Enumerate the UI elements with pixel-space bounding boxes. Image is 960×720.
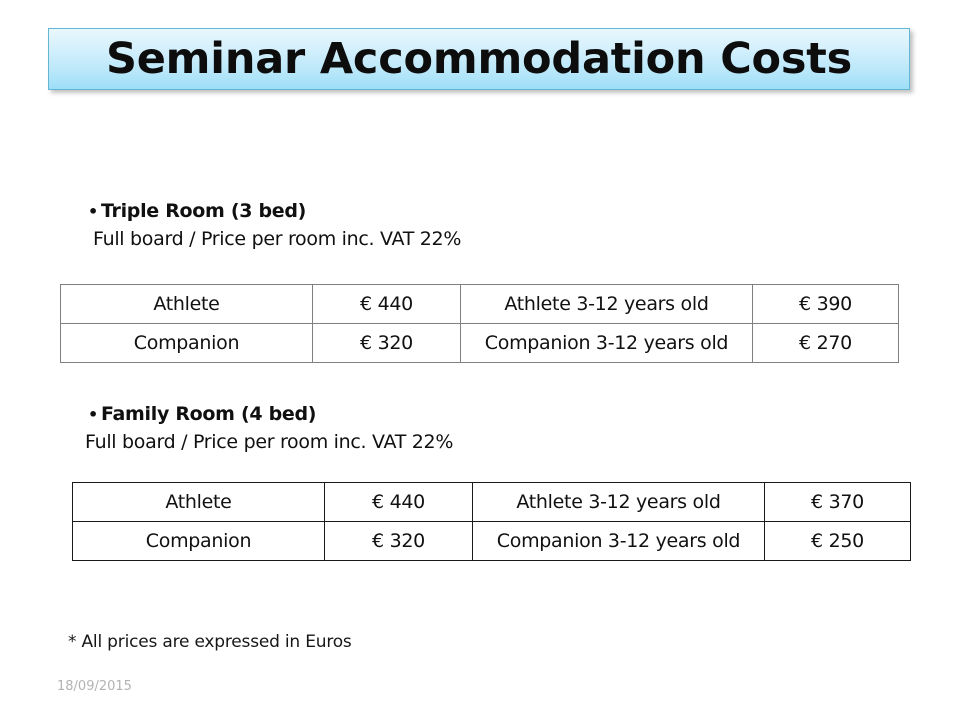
cell-occupant-type-child: Companion 3-12 years old — [473, 522, 765, 561]
cell-price-child: € 250 — [765, 522, 911, 561]
cell-occupant-type: Athlete — [73, 483, 325, 522]
section-heading-family-room: •Family Room (4 bed) — [88, 403, 316, 425]
cell-occupant-type-child: Athlete 3-12 years old — [461, 285, 753, 324]
table-row: Athlete € 440 Athlete 3-12 years old € 3… — [73, 483, 911, 522]
cell-occupant-type-child: Athlete 3-12 years old — [473, 483, 765, 522]
cell-price: € 440 — [313, 285, 461, 324]
cell-occupant-type: Athlete — [61, 285, 313, 324]
bullet-icon: • — [88, 405, 101, 424]
cell-occupant-type-child: Companion 3-12 years old — [461, 324, 753, 363]
table-row: Companion € 320 Companion 3-12 years old… — [61, 324, 899, 363]
section-heading-text: Family Room (4 bed) — [101, 403, 316, 425]
section-subheading-triple-room: Full board / Price per room inc. VAT 22% — [93, 228, 461, 250]
section-heading-text: Triple Room (3 bed) — [101, 200, 306, 222]
cell-price: € 320 — [313, 324, 461, 363]
slide-canvas: Seminar Accommodation Costs •Triple Room… — [0, 0, 960, 720]
section-subheading-family-room: Full board / Price per room inc. VAT 22% — [85, 431, 453, 453]
cell-occupant-type: Companion — [73, 522, 325, 561]
cell-price-child: € 390 — [753, 285, 899, 324]
table-row: Athlete € 440 Athlete 3-12 years old € 3… — [61, 285, 899, 324]
price-table-triple-room: Athlete € 440 Athlete 3-12 years old € 3… — [60, 284, 899, 363]
price-table-family-room: Athlete € 440 Athlete 3-12 years old € 3… — [72, 482, 911, 561]
slide-date: 18/09/2015 — [57, 679, 132, 694]
page-title: Seminar Accommodation Costs — [106, 38, 852, 81]
section-heading-triple-room: •Triple Room (3 bed) — [88, 200, 306, 222]
cell-price-child: € 370 — [765, 483, 911, 522]
footnote-text: * All prices are expressed in Euros — [68, 632, 352, 652]
title-banner: Seminar Accommodation Costs — [48, 28, 910, 90]
bullet-icon: • — [88, 202, 101, 221]
cell-price-child: € 270 — [753, 324, 899, 363]
cell-price: € 440 — [325, 483, 473, 522]
cell-price: € 320 — [325, 522, 473, 561]
table-row: Companion € 320 Companion 3-12 years old… — [73, 522, 911, 561]
cell-occupant-type: Companion — [61, 324, 313, 363]
